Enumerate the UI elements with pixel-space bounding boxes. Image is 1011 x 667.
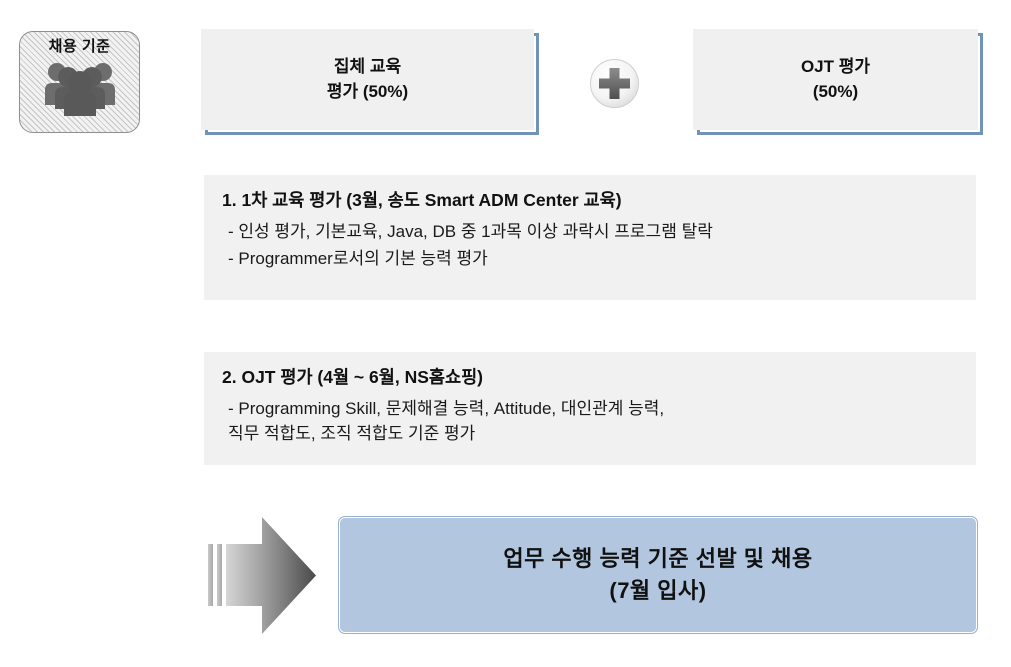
- panel-line: - Programmer로서의 기본 능력 평가: [228, 246, 958, 272]
- box-fill: 집체 교육 평가 (50%): [201, 29, 534, 130]
- evaluation-panel-ojt: 2. OJT 평가 (4월 ~ 6월, NS홈쇼핑) - Programming…: [204, 352, 976, 465]
- collective-education-evaluation-box[interactable]: 집체 교육 평가 (50%): [201, 29, 539, 135]
- recruitment-criteria-badge: 채용 기준: [19, 31, 140, 133]
- plus-icon: [589, 58, 640, 109]
- people-group-icon: [41, 59, 119, 122]
- final-result-box[interactable]: 업무 수행 능력 기준 선발 및 채용 (7월 입사): [338, 516, 978, 634]
- right-arrow-icon: [204, 515, 324, 637]
- badge-label: 채용 기준: [49, 39, 111, 56]
- ojt-evaluation-box[interactable]: OJT 평가 (50%): [693, 29, 983, 135]
- evaluation-panel-first-training: 1. 1차 교육 평가 (3월, 송도 Smart ADM Center 교육)…: [204, 175, 976, 300]
- panel-line: - Programming Skill, 문제해결 능력, Attitude, …: [228, 396, 958, 447]
- panel-line: - 인성 평가, 기본교육, Java, DB 중 1과목 이상 과락시 프로그…: [228, 219, 958, 245]
- box-fill: OJT 평가 (50%): [693, 29, 978, 130]
- panel-title: 1. 1차 교육 평가 (3월, 송도 Smart ADM Center 교육): [222, 189, 958, 213]
- collective-education-evaluation-label: 집체 교육 평가 (50%): [327, 55, 408, 104]
- diagram-canvas: 채용 기준: [0, 0, 1011, 667]
- ojt-evaluation-label: OJT 평가 (50%): [801, 55, 870, 104]
- panel-title: 2. OJT 평가 (4월 ~ 6월, NS홈쇼핑): [222, 366, 958, 390]
- final-result-label: 업무 수행 능력 기준 선발 및 채용 (7월 입사): [503, 543, 812, 607]
